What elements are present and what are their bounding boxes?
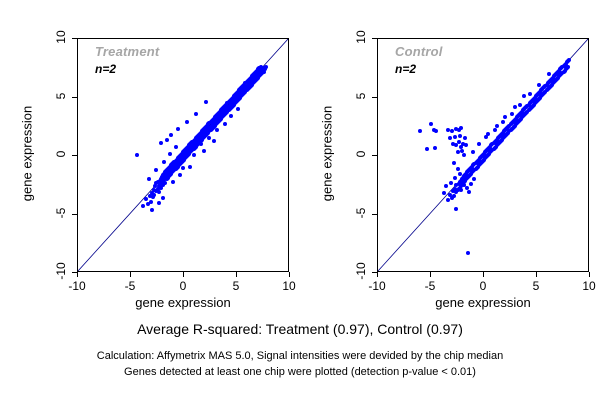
scatter-point — [223, 122, 227, 126]
scatter-point — [135, 153, 139, 157]
scatter-point — [495, 124, 499, 128]
scatter-point — [537, 83, 541, 87]
y-tick-mark — [372, 155, 377, 156]
x-tick-mark — [289, 272, 290, 277]
scatter-point — [467, 190, 471, 194]
scatter-point — [207, 136, 211, 140]
x-tick-mark — [536, 272, 537, 277]
y-tick-label: -5 — [354, 204, 368, 222]
x-tick-mark — [589, 272, 590, 277]
scatter-point — [165, 138, 169, 142]
x-tick-label: -10 — [57, 279, 97, 293]
panel-title-treatment: Treatment — [95, 44, 159, 59]
scatter-point — [472, 177, 476, 181]
x-tick-label: 5 — [516, 279, 556, 293]
scatter-point — [149, 200, 153, 204]
x-tick-mark — [236, 272, 237, 277]
y-tick-label: 0 — [354, 145, 368, 163]
scatter-point — [185, 120, 189, 124]
scatter-point — [459, 188, 463, 192]
x-tick-label: 0 — [463, 279, 503, 293]
scatter-point — [212, 139, 216, 143]
scatter-point — [169, 133, 173, 137]
figure-canvas: Treatment n=2 -10-50510-10-50510 gene ex… — [0, 0, 600, 400]
x-tick-mark — [430, 272, 431, 277]
scatter-point — [147, 177, 151, 181]
x-tick-mark — [77, 272, 78, 277]
scatter-point — [484, 135, 488, 139]
x-tick-label: -10 — [357, 279, 397, 293]
x-tick-label: -5 — [410, 279, 450, 293]
scatter-point — [442, 191, 446, 195]
scatter-point — [465, 186, 469, 190]
scatter-point — [229, 114, 233, 118]
x-tick-label: -5 — [110, 279, 150, 293]
scatter-point — [141, 204, 145, 208]
x-tick-mark — [377, 272, 378, 277]
scatter-point — [493, 128, 497, 132]
scatter-point — [150, 208, 154, 212]
y-axis-title-control: gene expression — [320, 89, 335, 219]
scatter-point — [448, 136, 452, 140]
x-tick-label: 5 — [216, 279, 256, 293]
scatter-point — [181, 166, 185, 170]
scatter-point — [168, 152, 172, 156]
scatter-point — [162, 160, 166, 164]
scatter-point — [264, 65, 268, 69]
scatter-point — [457, 140, 461, 144]
scatter-point — [444, 184, 448, 188]
scatter-point — [547, 72, 551, 76]
scatter-point — [236, 107, 240, 111]
scatter-point — [176, 127, 180, 131]
y-tick-label: -10 — [54, 262, 68, 280]
scatter-point — [154, 168, 158, 172]
y-tick-label: -5 — [54, 204, 68, 222]
x-axis-title-treatment: gene expression — [77, 295, 289, 310]
y-tick-label: 10 — [354, 28, 368, 46]
scatter-point — [458, 134, 462, 138]
y-tick-mark — [72, 272, 77, 273]
scatter-point — [171, 180, 175, 184]
y-tick-mark — [372, 214, 377, 215]
scatter-point — [159, 141, 163, 145]
y-axis-title-treatment: gene expression — [20, 89, 35, 219]
y-tick-mark — [372, 38, 377, 39]
y-tick-mark — [72, 214, 77, 215]
x-tick-label: 0 — [163, 279, 203, 293]
scatter-point — [174, 145, 178, 149]
caption-detection-criteria: Genes detected at least one chip were pl… — [0, 366, 600, 378]
scatter-point — [456, 150, 460, 154]
y-tick-mark — [372, 97, 377, 98]
scatter-point — [466, 251, 470, 255]
scatter-point — [144, 197, 148, 201]
panel-sample-size-control: n=2 — [395, 62, 416, 76]
scatter-point — [463, 136, 467, 140]
scatter-point — [157, 190, 161, 194]
y-tick-label: 5 — [54, 87, 68, 105]
scatter-point — [456, 167, 460, 171]
y-tick-label: -10 — [354, 262, 368, 280]
scatter-point — [566, 65, 570, 69]
scatter-point — [425, 147, 429, 151]
scatter-point — [188, 165, 192, 169]
scatter-point — [454, 143, 458, 147]
scatter-point — [192, 153, 196, 157]
scatter-point — [518, 103, 522, 107]
scatter-point — [202, 149, 206, 153]
scatter-point — [199, 142, 203, 146]
y-tick-label: 5 — [354, 87, 368, 105]
x-tick-mark — [183, 272, 184, 277]
scatter-point — [501, 120, 505, 124]
scatter-point — [458, 172, 462, 176]
caption-calculation-method: Calculation: Affymetrix MAS 5.0, Signal … — [0, 350, 600, 362]
scatter-point — [513, 105, 517, 109]
scatter-point — [215, 128, 219, 132]
scatter-point — [567, 58, 571, 62]
scatter-point — [454, 207, 458, 211]
panel-treatment: Treatment n=2 -10-50510-10-50510 gene ex… — [0, 0, 300, 310]
scatter-point — [161, 196, 165, 200]
x-tick-mark — [130, 272, 131, 277]
scatter-point — [429, 122, 433, 126]
caption-average-r-squared: Average R-squared: Treatment (0.97), Con… — [0, 321, 600, 337]
y-tick-mark — [72, 155, 77, 156]
scatter-point — [163, 181, 167, 185]
y-tick-label: 0 — [54, 145, 68, 163]
scatter-point — [152, 193, 156, 197]
scatter-point — [194, 112, 198, 116]
scatter-point — [434, 129, 438, 133]
panel-control: Control n=2 -10-50510-10-50510 gene expr… — [300, 0, 600, 310]
scatter-point — [522, 94, 526, 98]
x-axis-title-control: gene expression — [377, 295, 589, 310]
y-tick-label: 10 — [54, 28, 68, 46]
scatter-point — [462, 153, 466, 157]
scatter-point — [464, 143, 468, 147]
x-tick-mark — [483, 272, 484, 277]
scatter-point — [477, 142, 481, 146]
scatter-point — [178, 173, 182, 177]
scatter-point — [449, 181, 453, 185]
scatter-point — [452, 194, 456, 198]
scatter-point — [528, 92, 532, 96]
scatter-point — [459, 126, 463, 130]
x-tick-label: 10 — [569, 279, 600, 293]
scatter-point — [469, 182, 473, 186]
scatter-point — [503, 115, 507, 119]
scatter-point — [453, 135, 457, 139]
y-tick-mark — [72, 97, 77, 98]
panel-sample-size-treatment: n=2 — [95, 62, 116, 76]
scatter-point — [471, 150, 475, 154]
scatter-point — [157, 201, 161, 205]
scatter-point — [433, 146, 437, 150]
scatter-point — [452, 161, 456, 165]
scatter-point — [453, 176, 457, 180]
scatter-point — [204, 100, 208, 104]
scatter-point — [418, 129, 422, 133]
scatter-point — [510, 112, 514, 116]
y-tick-mark — [72, 38, 77, 39]
panel-title-control: Control — [395, 44, 443, 59]
y-tick-mark — [372, 272, 377, 273]
